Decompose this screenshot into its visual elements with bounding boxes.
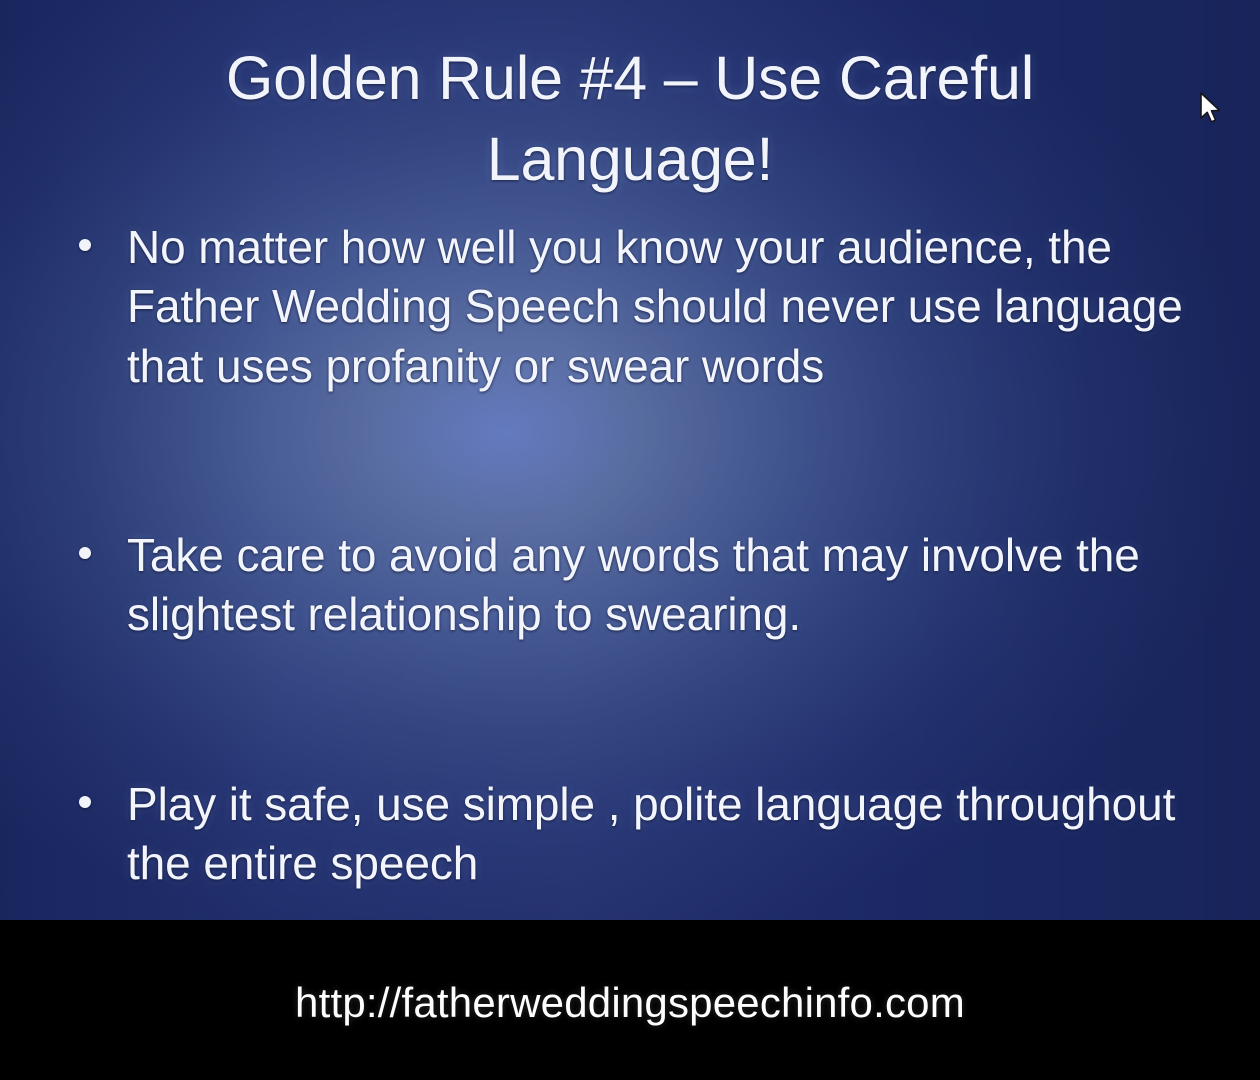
- slide-screenshot: Golden Rule #4 – Use Careful Language! N…: [0, 0, 1260, 1080]
- list-item-text: Play it safe, use simple , polite langua…: [127, 775, 1200, 894]
- footer-url-text: http://fatherweddingspeechinfo.com: [0, 982, 1260, 1024]
- list-item: Play it safe, use simple , polite langua…: [70, 775, 1200, 894]
- slide-title: Golden Rule #4 – Use Careful Language!: [110, 38, 1150, 200]
- slide-bullet-list: No matter how well you know your audienc…: [70, 218, 1200, 893]
- slide-canvas: Golden Rule #4 – Use Careful Language! N…: [0, 0, 1260, 920]
- footer-bar: http://fatherweddingspeechinfo.com: [0, 920, 1260, 1080]
- bullet-point-icon: [79, 239, 91, 251]
- list-item-text: No matter how well you know your audienc…: [127, 218, 1200, 396]
- bullet-point-icon: [79, 796, 91, 808]
- list-item: Take care to avoid any words that may in…: [70, 526, 1200, 645]
- list-item-text: Take care to avoid any words that may in…: [127, 526, 1200, 645]
- list-item: No matter how well you know your audienc…: [70, 218, 1200, 396]
- bullet-point-icon: [79, 547, 91, 559]
